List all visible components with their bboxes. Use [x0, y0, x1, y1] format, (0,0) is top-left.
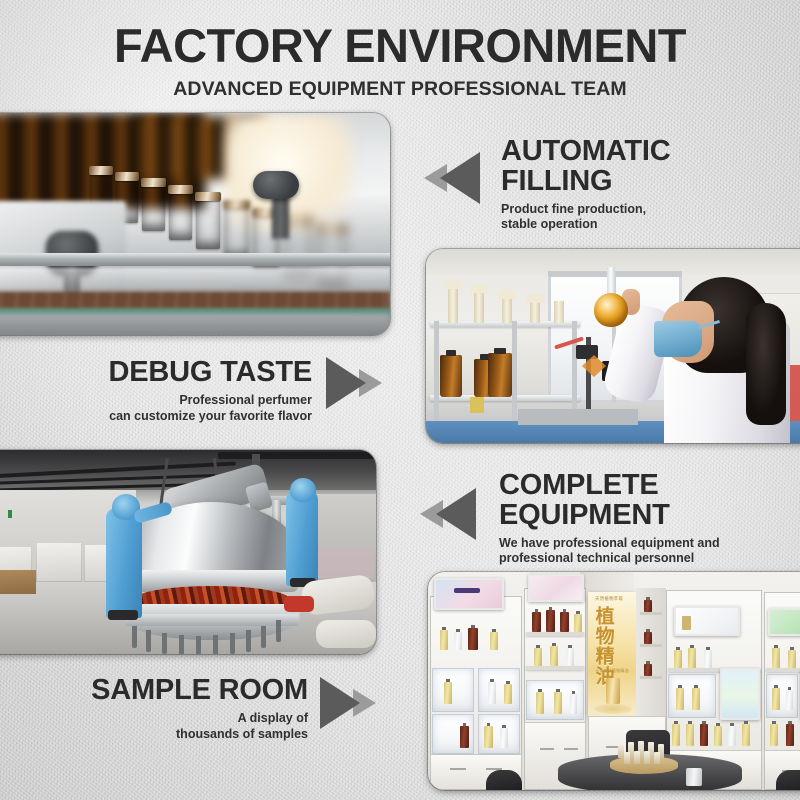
- poster-subtitle-text: 十年专注植物精油: [595, 668, 629, 674]
- callout-heading-debug-taste: DEBUG TASTE: [60, 358, 312, 388]
- callout-body-automatic-filling: Product fine production, stable operatio…: [501, 202, 791, 234]
- photo-extraction-vessel: [0, 450, 376, 654]
- photo-amber-bottles-conveyor: [0, 113, 390, 335]
- photo-panel-debug-taste: [426, 249, 800, 443]
- callout-debug-taste: DEBUG TASTE Professional perfumer can cu…: [60, 358, 312, 424]
- callout-heading-sample-room: SAMPLE ROOM: [50, 676, 308, 706]
- callout-heading-complete-equipment: COMPLETE EQUIPMENT: [499, 471, 799, 531]
- callout-sample-room: SAMPLE ROOM A display of thousands of sa…: [50, 676, 308, 742]
- callout-complete-equipment: COMPLETE EQUIPMENT We have professional …: [499, 471, 799, 567]
- callout-body-debug-taste: Professional perfumer can customize your…: [60, 393, 312, 425]
- poster-stage: FACTORY ENVIRONMENT ADVANCED EQUIPMENT P…: [0, 0, 800, 800]
- callout-body-complete-equipment: We have professional equipment and profe…: [499, 536, 799, 568]
- photo-panel-automatic-filling: [0, 113, 390, 335]
- arrow-left-double-icon-equipment: [420, 488, 482, 540]
- arrow-right-double-icon-debug: [320, 357, 382, 409]
- callout-automatic-filling: AUTOMATIC FILLING Product fine productio…: [501, 137, 791, 233]
- poster-title-text: 植物精油: [594, 606, 613, 686]
- page-subtitle: ADVANCED EQUIPMENT PROFESSIONAL TEAM: [0, 78, 800, 101]
- callout-heading-automatic-filling: AUTOMATIC FILLING: [501, 137, 791, 197]
- photo-sample-showroom: 天然植物萃取 植物精油 十年专注植物精油: [428, 572, 800, 790]
- poster-brand-text: 天然植物萃取: [595, 596, 623, 602]
- photo-panel-sample-room: 天然植物萃取 植物精油 十年专注植物精油: [428, 572, 800, 790]
- poster-header: FACTORY ENVIRONMENT ADVANCED EQUIPMENT P…: [0, 22, 800, 101]
- arrow-right-double-icon-sample: [314, 677, 376, 729]
- photo-lab-technician: [426, 249, 800, 443]
- photo-panel-complete-equipment: [0, 450, 376, 654]
- page-title: FACTORY ENVIRONMENT: [0, 22, 800, 71]
- arrow-left-double-icon-filling: [424, 152, 486, 204]
- callout-body-sample-room: A display of thousands of samples: [50, 711, 308, 743]
